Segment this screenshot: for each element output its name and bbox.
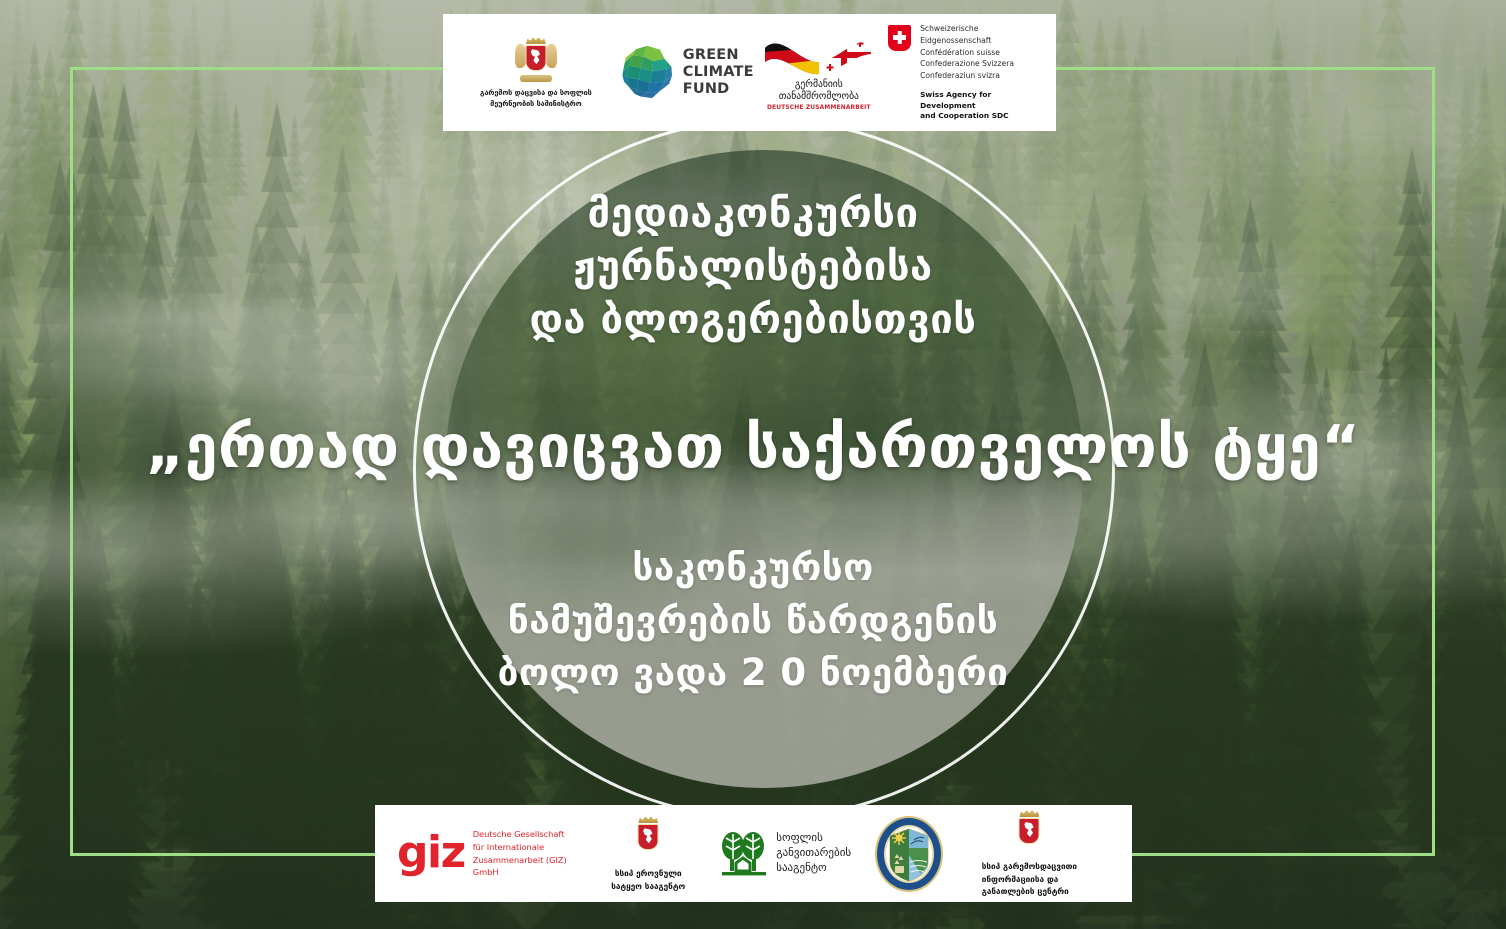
subject-heading-line3: და ბლოგერებისთვის: [0, 294, 1506, 347]
deadline-line3: ბოლო ვადა 2 0 ნოემბერი: [0, 647, 1506, 700]
state-seal-logo: [873, 814, 945, 894]
eiec-line1: სსიპ გარემოსდაცვითი: [982, 860, 1077, 873]
nfa-line1: სსიპ ეროვნული: [611, 867, 685, 879]
environmental-education-center-label: სსიპ გარემოსდაცვითი ინფორმაციისა და განა…: [982, 860, 1077, 898]
national-forestry-agency-logo: სსიპ ეროვნული სატყეო სააგენტო: [589, 815, 707, 892]
deu-geo-line2: თანამშრომლობა: [779, 91, 859, 103]
green-climate-fund-label: GREEN CLIMATE FUND: [683, 47, 754, 97]
ministry-logo: გარემოს დაცვისა და სოფლის მეურნეობის სამ…: [457, 36, 615, 109]
rda-line1: სოფლის: [776, 831, 851, 846]
giz-logo: giz Deutsche Gesellschaft für Internatio…: [397, 828, 581, 878]
gcf-line2: CLIMATE: [683, 64, 754, 81]
deadline-line1: საკონკურსო: [0, 542, 1506, 595]
deadline-block: საკონკურსო ნამუშევრების წარდგენის ბოლო ვ…: [0, 542, 1506, 700]
giz-line2: für Internationale: [473, 841, 582, 854]
page-title: „ერთად დავიცვათ საქართველოს ტყე“: [0, 415, 1506, 480]
bottom-logo-bar: giz Deutsche Gesellschaft für Internatio…: [375, 805, 1132, 902]
top-logo-bar: გარემოს დაცვისა და სოფლის მეურნეობის სამ…: [443, 14, 1056, 131]
swiss-lang-de: Schweizerische Eidgenossenschaft: [920, 23, 1042, 47]
subject-heading: მედიაკონკურსი ჟურნალისტებისა და ბლოგერებ…: [0, 188, 1506, 346]
deu-geo-line1: გერმანიის: [779, 79, 859, 91]
gcf-line3: FUND: [683, 81, 754, 98]
rda-line3: სააგენტო: [776, 861, 851, 876]
deadline-line2: ნამუშევრების წარდგენის: [0, 595, 1506, 648]
eiec-line2: ინფორმაციისა და: [982, 873, 1077, 886]
rda-line2: განვითარების: [776, 846, 851, 861]
poster-canvas: გარემოს დაცვისა და სოფლის მეურნეობის სამ…: [0, 0, 1506, 929]
nfa-line2: სატყეო სააგენტო: [611, 880, 685, 892]
ministry-label-line1: გარემოს დაცვისა და სოფლის: [480, 88, 592, 98]
swiss-agency-line1: Swiss Agency for Development: [920, 90, 1042, 111]
green-climate-fund-sphere-icon: [619, 44, 676, 101]
swiss-agency-line2: and Cooperation SDC: [920, 111, 1042, 122]
two-trees-house-icon: [719, 830, 769, 877]
environmental-education-center-logo: სსიპ გარემოსდაცვითი ინფორმაციისა და განა…: [949, 809, 1110, 898]
national-forestry-agency-label: სსიპ ეროვნული სატყეო სააგენტო: [611, 867, 685, 892]
giz-line1: Deutsche Gesellschaft: [473, 828, 582, 841]
swiss-lang-it: Confederazione Svizzera: [920, 58, 1042, 70]
subject-heading-line2: ჟურნალისტებისა: [0, 241, 1506, 294]
green-climate-fund-logo: GREEN CLIMATE FUND: [619, 44, 760, 101]
swiss-agency-label: Swiss Agency for Development and Coopera…: [920, 90, 1042, 122]
rural-development-agency-label: სოფლის განვითარების სააგენტო: [776, 831, 851, 875]
german-georgian-flag-ribbon-icon: [763, 34, 875, 78]
swiss-confederation-logo: Schweizerische Eidgenossenschaft Confédé…: [888, 23, 1042, 122]
german-cooperation-subtitle: DEUTSCHE ZUSAMMENARBEIT: [767, 105, 871, 111]
swiss-lang-rm: Confederaziun svizra: [920, 70, 1042, 82]
georgia-coat-of-arms-icon: [1008, 809, 1050, 855]
eiec-line3: განათლების ცენტრი: [982, 885, 1077, 898]
ministry-label: გარემოს დაცვისა და სოფლის მეურნეობის სამ…: [480, 88, 592, 109]
german-cooperation-label-geo: გერმანიის თანამშრომლობა: [779, 79, 859, 104]
rural-development-agency-logo: სოფლის განვითარების სააგენტო: [719, 830, 865, 877]
gcf-line1: GREEN: [683, 47, 754, 64]
georgia-coat-of-arms-icon: [627, 815, 669, 861]
swiss-languages: Schweizerische Eidgenossenschaft Confédé…: [920, 23, 1042, 82]
subject-heading-line1: მედიაკონკურსი: [0, 188, 1506, 241]
swiss-cross-shield-icon: [888, 25, 911, 51]
german-cooperation-logo: გერმანიის თანამშრომლობა DEUTSCHE ZUSAMME…: [762, 34, 877, 112]
swiss-lang-fr: Confédération suisse: [920, 47, 1042, 59]
oval-state-seal-emblem-icon: [873, 814, 945, 894]
giz-line3: Zusammenarbeit (GIZ) GmbH: [473, 854, 582, 879]
georgia-coat-of-arms-icon: [515, 36, 557, 82]
giz-wordmark: giz: [397, 836, 465, 870]
giz-label: Deutsche Gesellschaft für Internationale…: [473, 828, 582, 878]
ministry-label-line2: მეურნეობის სამინისტრო: [480, 99, 592, 109]
